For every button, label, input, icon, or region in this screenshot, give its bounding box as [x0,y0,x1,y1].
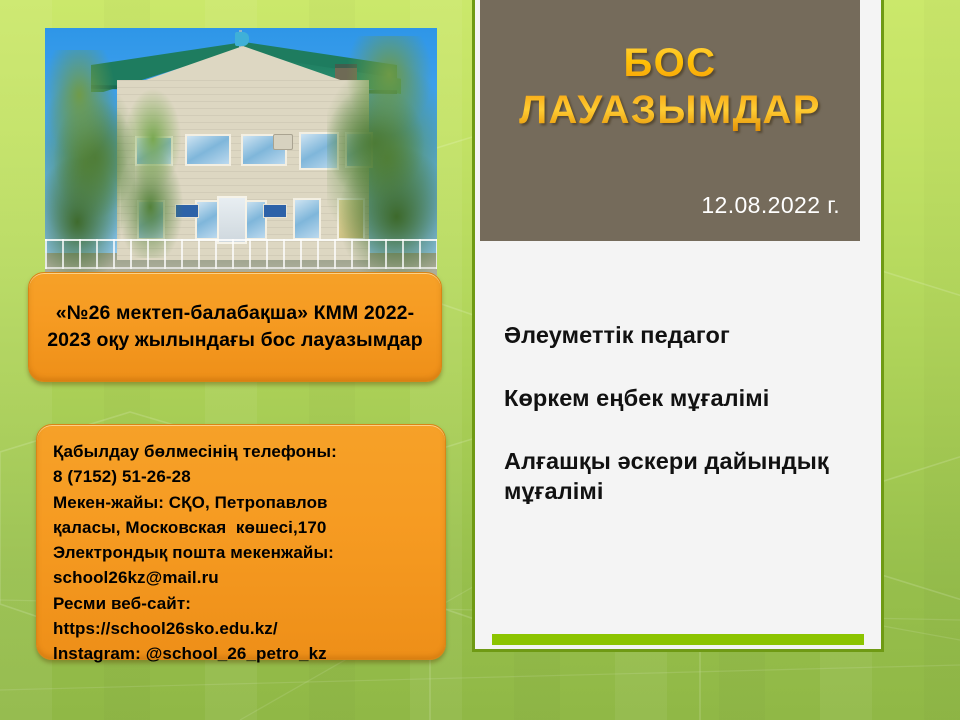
window [185,134,231,166]
panel-header-title: БОС ЛАУАЗЫМДАР [480,40,860,134]
panel-header: БОС ЛАУАЗЫМДАР 12.08.2022 г. [480,0,860,241]
vacancy-item: Көркем еңбек мұғалімі [504,383,864,413]
school-title-callout: «№26 мектеп-балабақша» КММ 2022-2023 оқу… [28,272,442,382]
fence [45,239,437,269]
slide-canvas: «№26 мектеп-балабақша» КММ 2022-2023 оқу… [0,0,960,720]
vacancy-item: Алғашқы әскери дайындық мұғалімі [504,446,864,506]
vacancy-item: Әлеуметтік педагог [504,320,864,350]
panel-accent-bar [492,634,864,645]
kazakh-flag-icon [235,32,249,46]
school-building-photo [45,28,437,283]
air-conditioner [273,134,293,150]
vacancies-list: Әлеуметтік педагог Көркем еңбек мұғалімі… [504,320,864,506]
panel-header-date: 12.08.2022 г. [701,192,840,219]
contact-info-text: Қабылдау бөлмесінің телефоны: 8 (7152) 5… [53,439,445,667]
contact-info-callout: Қабылдау бөлмесінің телефоны: 8 (7152) 5… [36,424,446,660]
wall-sign [263,204,287,218]
window [293,198,321,240]
entrance-door [217,196,247,244]
school-title-text: «№26 мектеп-балабақша» КММ 2022-2023 оқу… [29,300,441,354]
